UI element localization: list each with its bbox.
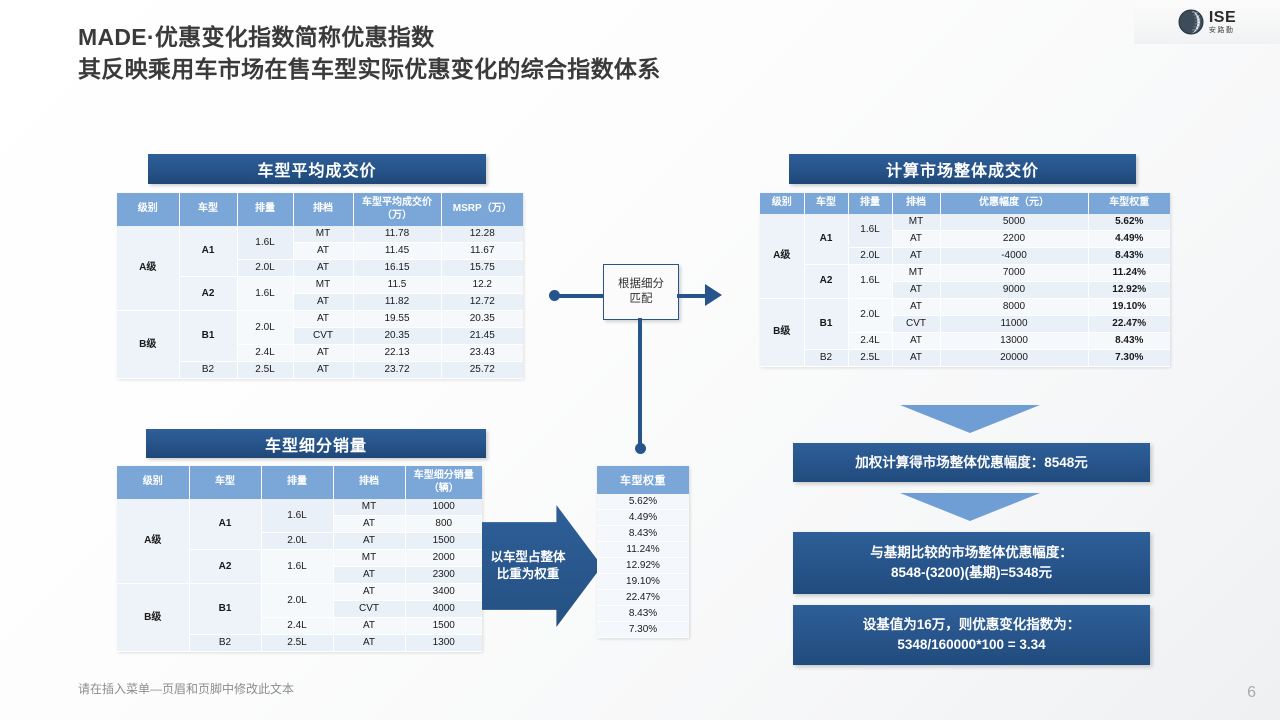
callout-weighted-discount: 加权计算得市场整体优惠幅度：8548元 [793, 443, 1150, 482]
table-row: A级 A1 1.6L MT 11.78 12.28 [117, 226, 523, 243]
table-market-price: 级别 车型 排量 排档 优惠幅度（元） 车型权重 A级 A1 1.6L MT 5… [760, 193, 1170, 367]
page-title-line1: MADE·优惠变化指数简称优惠指数 [78, 24, 434, 50]
cell-level: A级 [117, 499, 189, 584]
table-avg-price: 级别 车型 排量 排档 车型平均成交价（万） MSRP（万） A级 A1 1.6… [117, 193, 523, 379]
col-level: 级别 [117, 466, 189, 499]
cell-model: B2 [804, 349, 848, 366]
table-row: 12.92% [597, 558, 689, 574]
weight-rule-text: 以车型占整体比重为权重 [490, 549, 565, 584]
cell-gear: CVT [333, 601, 405, 618]
cell-sales: 1300 [405, 635, 482, 652]
cell-gear: AT [333, 635, 405, 652]
cell-discount: 11000 [940, 315, 1088, 332]
cell-gear: AT [892, 298, 940, 315]
cell-gear: MT [892, 214, 940, 231]
cell-gear: AT [293, 294, 353, 311]
cell-displacement: 2.0L [261, 584, 333, 618]
cell-weight: 7.30% [597, 622, 689, 638]
brand-logo: ISE 安路勤 [1134, 0, 1280, 44]
col-gearbox: 排档 [293, 193, 353, 226]
table-row: 5.62% [597, 494, 689, 510]
arrow-right-icon [705, 284, 722, 306]
table-row: 11.24% [597, 542, 689, 558]
callout-base-comparison: 与基期比较的市场整体优惠幅度：8548-(3200)(基期)=5348元 [793, 532, 1150, 594]
cell-displacement: 2.4L [237, 345, 293, 362]
cell-gear: AT [892, 281, 940, 298]
cell-avg-price: 11.82 [353, 294, 441, 311]
cell-discount: 20000 [940, 349, 1088, 366]
table-row: B2 2.5L AT 20000 7.30% [760, 349, 1170, 366]
cell-sales: 1500 [405, 618, 482, 635]
cell-model: B2 [189, 635, 261, 652]
cell-gear: AT [892, 349, 940, 366]
col-avg-price: 车型平均成交价（万） [353, 193, 441, 226]
col-msrp: MSRP（万） [441, 193, 523, 226]
footer-placeholder-text: 请在插入菜单—页眉和页脚中修改此文本 [78, 680, 294, 697]
cell-level: A级 [760, 214, 804, 299]
cell-sales: 2000 [405, 550, 482, 567]
logo-text: ISE 安路勤 [1209, 10, 1236, 34]
cell-discount: 9000 [940, 281, 1088, 298]
cell-sales: 4000 [405, 601, 482, 618]
table-row: 8.43% [597, 606, 689, 622]
cell-gear: AT [333, 516, 405, 533]
banner-sales: 车型细分销量 [146, 429, 486, 458]
table-row: 22.47% [597, 590, 689, 606]
cell-avg-price: 19.55 [353, 311, 441, 328]
connector-end-dot [635, 443, 646, 454]
cell-displacement: 2.5L [261, 635, 333, 652]
cell-gear: MT [293, 226, 353, 243]
cell-gear: AT [293, 362, 353, 379]
cell-discount: 7000 [940, 264, 1088, 281]
cell-weight: 19.10% [597, 574, 689, 590]
table-row: B级 B1 2.0L AT 8000 19.10% [760, 298, 1170, 315]
cell-gear: AT [333, 533, 405, 550]
cell-level: B级 [760, 298, 804, 366]
callout-index-formula: 设基值为16万，则优惠变化指数为：5348/160000*100 = 3.34 [793, 605, 1150, 665]
table-header-row: 级别 车型 排量 排档 车型平均成交价（万） MSRP（万） [117, 193, 523, 226]
cell-gear: AT [293, 260, 353, 277]
cell-level: B级 [117, 311, 179, 379]
cell-displacement: 1.6L [848, 214, 892, 248]
cell-displacement: 1.6L [261, 550, 333, 584]
table-row: 4.49% [597, 510, 689, 526]
connector-line-left [558, 294, 608, 298]
cell-sales: 1000 [405, 499, 482, 516]
cell-model: A2 [189, 550, 261, 584]
cell-model: A1 [189, 499, 261, 550]
cell-msrp: 12.28 [441, 226, 523, 243]
col-level: 级别 [760, 193, 804, 214]
cell-gear: MT [293, 277, 353, 294]
cell-model: A2 [179, 277, 237, 311]
cell-displacement: 2.0L [848, 247, 892, 264]
table-row: B级 B1 2.0L AT 3400 [117, 584, 482, 601]
cell-gear: CVT [892, 315, 940, 332]
cell-weight: 12.92% [1088, 281, 1170, 298]
cell-gear: AT [293, 311, 353, 328]
col-model: 车型 [179, 193, 237, 226]
cell-gear: AT [293, 243, 353, 260]
cell-weight: 8.43% [1088, 332, 1170, 349]
globe-icon [1178, 9, 1204, 35]
cell-weight: 8.43% [597, 606, 689, 622]
col-displacement: 排量 [261, 466, 333, 499]
col-discount: 优惠幅度（元） [940, 193, 1088, 214]
cell-weight: 5.62% [1088, 214, 1170, 231]
table-row: 8.43% [597, 526, 689, 542]
cell-model: B1 [179, 311, 237, 362]
cell-displacement: 1.6L [848, 264, 892, 298]
cell-weight: 7.30% [1088, 349, 1170, 366]
cell-msrp: 25.72 [441, 362, 523, 379]
col-gearbox: 排档 [892, 193, 940, 214]
cell-sales: 2300 [405, 567, 482, 584]
cell-level: B级 [117, 584, 189, 652]
cell-gear: MT [333, 499, 405, 516]
cell-displacement: 1.6L [237, 277, 293, 311]
table-header-row: 级别 车型 排量 排档 车型细分销量（辆） [117, 466, 482, 499]
col-displacement: 排量 [237, 193, 293, 226]
cell-model: B2 [179, 362, 237, 379]
cell-weight: 8.43% [1088, 247, 1170, 264]
cell-sales: 800 [405, 516, 482, 533]
cell-msrp: 21.45 [441, 328, 523, 345]
col-gearbox: 排档 [333, 466, 405, 499]
cell-gear: MT [892, 264, 940, 281]
cell-displacement: 2.0L [237, 311, 293, 345]
cell-weight: 4.49% [1088, 230, 1170, 247]
cell-avg-price: 22.13 [353, 345, 441, 362]
cell-sales: 3400 [405, 584, 482, 601]
cell-weight: 5.62% [597, 494, 689, 510]
cell-gear: AT [892, 332, 940, 349]
cell-discount: -4000 [940, 247, 1088, 264]
col-model: 车型 [804, 193, 848, 214]
page-title-line2: 其反映乘用车市场在售车型实际优惠变化的综合指数体系 [78, 54, 958, 86]
table-sales: 级别 车型 排量 排档 车型细分销量（辆） A级 A1 1.6L MT 1000… [117, 466, 482, 652]
col-weight: 车型权重 [1088, 193, 1170, 214]
cell-level: A级 [117, 226, 179, 311]
cell-weight: 12.92% [597, 558, 689, 574]
cell-discount: 5000 [940, 214, 1088, 231]
logo-subtitle: 安路勤 [1209, 27, 1236, 34]
cell-displacement: 2.4L [261, 618, 333, 635]
down-arrow-icon-2 [900, 493, 1040, 521]
connector-line-right [677, 294, 707, 298]
cell-gear: AT [892, 247, 940, 264]
cell-displacement: 1.6L [261, 499, 333, 533]
cell-displacement: 2.0L [237, 260, 293, 277]
match-rule-box: 根据细分匹配 [603, 264, 679, 320]
cell-weight: 8.43% [597, 526, 689, 542]
logo-brand: ISE [1209, 10, 1236, 26]
cell-avg-price: 16.15 [353, 260, 441, 277]
cell-displacement: 2.0L [261, 533, 333, 550]
cell-discount: 8000 [940, 298, 1088, 315]
match-rule-text: 根据细分匹配 [618, 277, 664, 307]
table-row: 19.10% [597, 574, 689, 590]
cell-msrp: 11.67 [441, 243, 523, 260]
cell-weight: 22.47% [597, 590, 689, 606]
cell-weight: 11.24% [1088, 264, 1170, 281]
cell-avg-price: 23.72 [353, 362, 441, 379]
cell-model: A1 [804, 214, 848, 265]
cell-gear: AT [293, 345, 353, 362]
callout-base-comparison-text: 与基期比较的市场整体优惠幅度：8548-(3200)(基期)=5348元 [870, 543, 1073, 582]
cell-weight: 11.24% [597, 542, 689, 558]
cell-model: B1 [804, 298, 848, 349]
cell-avg-price: 11.78 [353, 226, 441, 243]
down-arrow-icon-1 [900, 405, 1040, 433]
table-row: B级 B1 2.0L AT 19.55 20.35 [117, 311, 523, 328]
cell-discount: 13000 [940, 332, 1088, 349]
cell-displacement: 2.4L [848, 332, 892, 349]
col-level: 级别 [117, 193, 179, 226]
col-model: 车型 [189, 466, 261, 499]
banner-avg-price: 车型平均成交价 [148, 154, 486, 184]
cell-gear: AT [333, 584, 405, 601]
cell-model: A1 [179, 226, 237, 277]
table-weight: 车型权重 5.62% 4.49% 8.43% 11.24% 12.92% 19.… [597, 466, 689, 638]
cell-gear: AT [892, 230, 940, 247]
banner-market-price: 计算市场整体成交价 [789, 154, 1136, 184]
slide-canvas: ISE 安路勤 MADE·优惠变化指数简称优惠指数 其反映乘用车市场在售车型实际… [0, 0, 1280, 720]
page-title: MADE·优惠变化指数简称优惠指数 其反映乘用车市场在售车型实际优惠变化的综合指… [78, 22, 958, 85]
col-displacement: 排量 [848, 193, 892, 214]
cell-weight: 22.47% [1088, 315, 1170, 332]
cell-avg-price: 11.45 [353, 243, 441, 260]
cell-displacement: 2.0L [848, 298, 892, 332]
cell-gear: AT [333, 618, 405, 635]
cell-weight: 19.10% [1088, 298, 1170, 315]
connector-line-down [638, 318, 642, 448]
cell-weight: 4.49% [597, 510, 689, 526]
col-weight: 车型权重 [597, 466, 689, 494]
cell-avg-price: 20.35 [353, 328, 441, 345]
cell-msrp: 15.75 [441, 260, 523, 277]
callout-index-formula-text: 设基值为16万，则优惠变化指数为：5348/160000*100 = 3.34 [863, 615, 1081, 654]
cell-sales: 1500 [405, 533, 482, 550]
cell-msrp: 20.35 [441, 311, 523, 328]
table-row: A2 1.6L MT 7000 11.24% [760, 264, 1170, 281]
cell-gear: AT [333, 567, 405, 584]
cell-model: A2 [804, 264, 848, 298]
cell-model: B1 [189, 584, 261, 635]
table-header-row: 级别 车型 排量 排档 优惠幅度（元） 车型权重 [760, 193, 1170, 214]
col-sales: 车型细分销量（辆） [405, 466, 482, 499]
cell-avg-price: 11.5 [353, 277, 441, 294]
table-row: A级 A1 1.6L MT 5000 5.62% [760, 214, 1170, 231]
table-row: 7.30% [597, 622, 689, 638]
cell-displacement: 1.6L [237, 226, 293, 260]
cell-msrp: 12.2 [441, 277, 523, 294]
cell-msrp: 23.43 [441, 345, 523, 362]
cell-discount: 2200 [940, 230, 1088, 247]
cell-msrp: 12.72 [441, 294, 523, 311]
page-number: 6 [1247, 684, 1256, 702]
table-row: A级 A1 1.6L MT 1000 [117, 499, 482, 516]
weight-rule-arrow: 以车型占整体比重为权重 [482, 505, 602, 627]
table-header-row: 车型权重 [597, 466, 689, 494]
cell-gear: MT [333, 550, 405, 567]
cell-gear: CVT [293, 328, 353, 345]
cell-displacement: 2.5L [848, 349, 892, 366]
cell-displacement: 2.5L [237, 362, 293, 379]
